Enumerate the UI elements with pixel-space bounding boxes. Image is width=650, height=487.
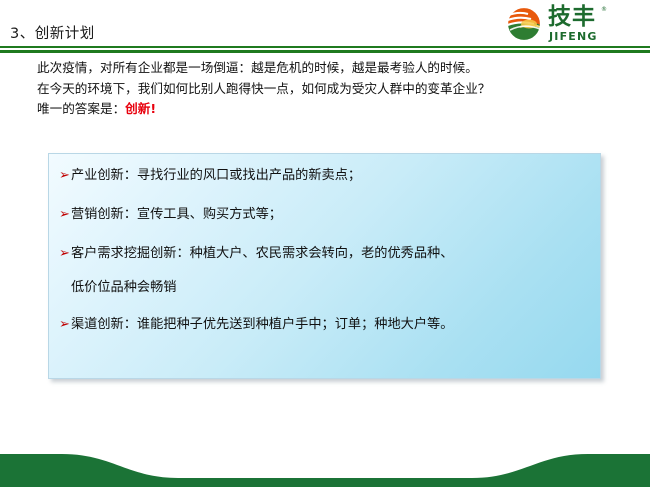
list-item: ➢ 客户需求挖掘创新：种植大户、农民需求会转向，老的优秀品种、 (59, 244, 592, 263)
list-item-label: 渠道创新：谁能把种子优先送到种植户手中；订单；种地大户等。 (71, 315, 592, 334)
footer-band-shape (0, 440, 650, 487)
header-rule-thin (0, 46, 650, 48)
list-item-label: 产业创新：寻找行业的风口或找出产品的新卖点； (71, 166, 592, 185)
header-rule-thick (0, 50, 650, 53)
logo-wordmark: 技丰 ® JIFENG (548, 5, 644, 45)
slide-footer: 种 丰 吉 成 再 攀 高 峰 70 技丰种业集团 (0, 440, 650, 487)
list-item-continuation: 低价位品种会畅销 (59, 278, 592, 297)
intro-line-2: 在今天的环境下，我们如何比别人跑得快一点，如何成为受灾人群中的变革企业？ (37, 79, 637, 100)
logo-chinese-name: 技丰 (548, 5, 596, 30)
slide-header: 3、创新计划 (0, 0, 650, 54)
company-logo: 技丰 ® JIFENG (504, 3, 646, 45)
list-item: ➢ 营销创新：宣传工具、购买方式等； (59, 205, 592, 224)
jifeng-seed-emblem-icon (504, 4, 544, 44)
list-item-label: 客户需求挖掘创新：种植大户、农民需求会转向，老的优秀品种、 (71, 244, 592, 263)
innovation-points-box: ➢ 产业创新：寻找行业的风口或找出产品的新卖点； ➢ 营销创新：宣传工具、购买方… (48, 153, 601, 379)
intro-line-3: 唯一的答案是：创新! (37, 99, 637, 120)
bullet-list: ➢ 产业创新：寻找行业的风口或找出产品的新卖点； ➢ 营销创新：宣传工具、购买方… (59, 166, 592, 354)
intro-line-1: 此次疫情，对所有企业都是一场倒逼：越是危机的时候，越是最考验人的时候。 (37, 58, 637, 79)
intro-line-3-prefix: 唯一的答案是： (37, 101, 125, 116)
arrow-bullet-icon: ➢ (59, 166, 71, 185)
intro-paragraph: 此次疫情，对所有企业都是一场倒逼：越是危机的时候，越是最考验人的时候。 在今天的… (37, 58, 637, 120)
arrow-bullet-icon: ➢ (59, 244, 71, 263)
arrow-bullet-icon: ➢ (59, 205, 71, 224)
logo-latin-name: JIFENG (549, 30, 598, 43)
page-title: 3、创新计划 (10, 22, 95, 43)
list-item-label: 营销创新：宣传工具、购买方式等； (71, 205, 592, 224)
intro-highlight: 创新! (125, 101, 156, 116)
slide-canvas: 3、创新计划 (0, 0, 650, 487)
list-item: ➢ 产业创新：寻找行业的风口或找出产品的新卖点； (59, 166, 592, 185)
registered-mark-icon: ® (601, 6, 607, 13)
list-item: ➢ 渠道创新：谁能把种子优先送到种植户手中；订单；种地大户等。 (59, 315, 592, 334)
arrow-bullet-icon: ➢ (59, 315, 71, 334)
